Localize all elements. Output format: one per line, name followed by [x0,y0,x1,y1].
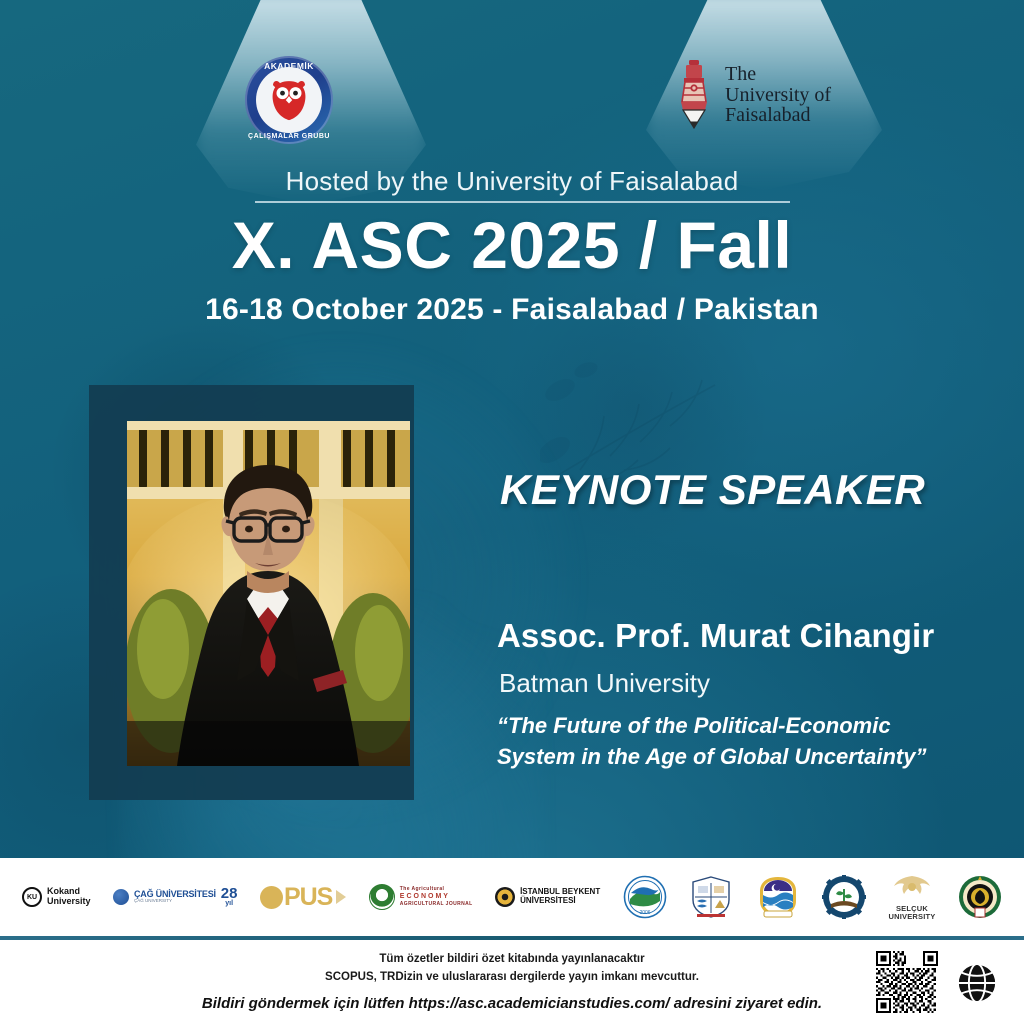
shield-crest-icon [689,875,733,919]
uof-line-2: University of [725,85,831,106]
footer-note-line-1: Tüm özetler bildiri özet kitabında yayın… [0,953,1024,965]
sponsor-istanbul-beykent-universitesi: İSTANBUL BEYKENT ÜNİVERSİTESİ [495,887,600,907]
kokand-label: Kokand University [47,887,91,906]
agri-line-3: AGRICULTURAL JOURNAL [400,901,473,907]
agri-label: The Agricultural ECONOMY AGRICULTURAL JO… [400,886,473,907]
uof-line-3: Faisalabad [725,105,831,126]
pakistan-crest-icon [756,875,800,919]
gear-seal-icon [822,875,866,919]
conference-poster: AKADEMİK ÇALIŞMALAR GRUBU [0,0,1024,1024]
sponsor-opus: PUS [260,883,346,912]
cag-label: ÇAĞ ÜNİVERSİTESİ ÇAĞ UNIVERSITY [134,890,216,904]
title-divider [255,201,790,203]
selcuk-line-2: UNIVERSITY [888,913,935,921]
qr-code[interactable] [876,951,938,1013]
speaker-topic-line-2: System in the Age of Global Uncertainty” [497,741,997,772]
sponsor-agriculture-faculty-gear-seal [822,875,866,919]
akademik-calismalar-grubu-logo: AKADEMİK ÇALIŞMALAR GRUBU [245,56,333,144]
sponsor-logo-strip: KU Kokand University ÇAĞ ÜNİVERSİTESİ ÇA… [0,858,1024,936]
university-of-faisalabad-logo: The University of Faisalabad [672,58,831,132]
kokand-line-2: University [47,897,91,907]
selcuk-label: SELÇUK UNIVERSITY [888,905,935,921]
university-of-faisalabad-name: The University of Faisalabad [725,64,831,126]
speaker-photo [127,421,410,766]
agri-line-2: ECONOMY [400,893,473,902]
uof-line-1: The [725,64,831,85]
opus-arrow-icon [336,890,346,904]
speaker-affiliation: Batman University [499,668,710,699]
footer-note-line-2: SCOPUS, TRDizin ve uluslararası dergiler… [0,971,1024,983]
sponsor-agricultural-economy: The Agricultural ECONOMY AGRICULTURAL JO… [369,884,473,910]
akademik-bottom-text: ÇALIŞMALAR GRUBU [245,133,333,140]
beykent-mark-icon [495,887,515,907]
speaker-portrait-illustration [127,421,410,766]
speaker-name: Assoc. Prof. Murat Cihangir [497,617,934,655]
laurel-crest-icon [958,875,1002,919]
hosted-by-text: Hosted by the University of Faisalabad [0,166,1024,197]
selcuk-crest-icon [890,874,934,900]
page-title: X. ASC 2025 / Fall [0,212,1024,278]
sponsor-kokand-university: KU Kokand University [22,887,91,907]
sponsor-nakhchivan-state-university-seal: 2006 [623,875,667,919]
sponsor-shield-crest-university-seal [689,875,733,919]
footer-submission-url-text[interactable]: Bildiri göndermek için lütfen https://as… [0,995,1024,1012]
agri-seal-icon [369,884,395,910]
owl-icon [269,77,309,121]
circular-university-seal-icon: 2006 [623,875,667,919]
seal-year: 2006 [639,910,650,916]
globe-icon[interactable] [956,962,998,1004]
cag-mark-icon [113,889,129,905]
lighthouse-pencil-icon [672,58,716,132]
speaker-topic: “The Future of the Political-Economic Sy… [497,710,997,772]
sponsor-cag-universitesi: ÇAĞ ÜNİVERSİTESİ ÇAĞ UNIVERSITY 28 yıl [113,887,238,907]
footer: Tüm özetler bildiri özet kitabında yayın… [0,940,1024,1024]
sponsor-afghanistan-university-crest [958,875,1002,919]
opus-o-icon [260,886,283,909]
kokand-badge-icon: KU [22,887,42,907]
cag-line-2: ÇAĞ UNIVERSITY [134,899,216,904]
sponsor-pakistan-government-crest [756,875,800,919]
keynote-speaker-label: KEYNOTE SPEAKER [500,466,925,514]
cag-anniversary: 28 yıl [221,887,238,907]
beykent-line-2: ÜNİVERSİTESİ [520,897,600,906]
event-date-location: 16-18 October 2025 - Faisalabad / Pakist… [0,293,1024,327]
sponsor-selcuk-university: SELÇUK UNIVERSITY [888,874,935,921]
opus-label: PUS [284,883,332,912]
speaker-topic-line-1: “The Future of the Political-Economic [497,710,997,741]
beykent-label: İSTANBUL BEYKENT ÜNİVERSİTESİ [520,888,600,906]
agri-line-1: The Agricultural [400,886,445,892]
